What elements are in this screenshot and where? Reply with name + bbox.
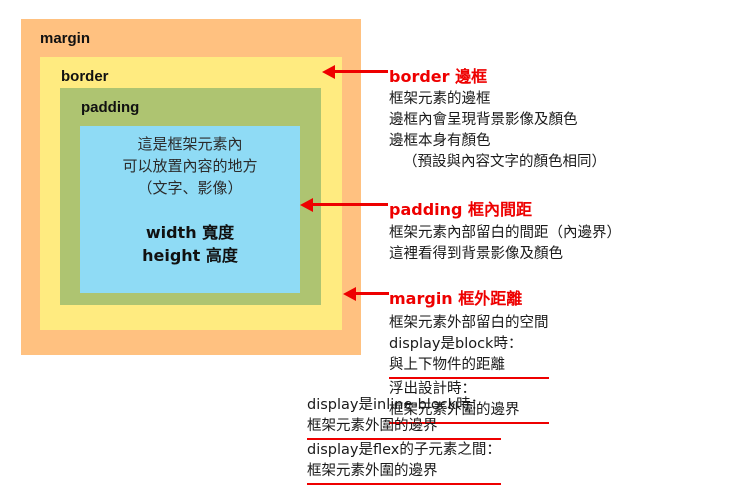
extra-flex-value: 框架元素外圍的邊界 bbox=[307, 461, 501, 485]
margin-note-line-1: 框架元素外部留白的空間 bbox=[389, 313, 549, 334]
margin-layer-label: margin bbox=[40, 31, 90, 46]
border-layer: border padding 這是框架元素內 可以放置內容的地方 （文字、影像）… bbox=[40, 57, 342, 330]
content-description: 這是框架元素內 可以放置內容的地方 （文字、影像） bbox=[80, 133, 300, 199]
padding-note-heading: padding 框內間距 bbox=[389, 196, 532, 220]
arrow-shaft bbox=[353, 292, 389, 295]
box-model-diagram: margin border padding 這是框架元素內 可以放置內容的地方 … bbox=[21, 19, 361, 355]
border-note-line-2: 邊框內會呈現背景影像及顏色 bbox=[389, 110, 606, 131]
content-dimensions: width 寬度 height 高度 bbox=[80, 221, 300, 267]
border-note-line-3: 邊框本身有顏色 bbox=[389, 131, 606, 152]
arrow-to-border-icon bbox=[322, 64, 386, 80]
content-height-label: height 高度 bbox=[80, 244, 300, 267]
content-line-3: （文字、影像） bbox=[80, 177, 300, 199]
content-line-1: 這是框架元素內 bbox=[80, 133, 300, 155]
content-width-label: width 寬度 bbox=[80, 221, 300, 244]
border-note-heading: border 邊框 bbox=[389, 63, 487, 87]
margin-note-heading: margin 框外距離 bbox=[389, 285, 522, 309]
margin-block-value: 與上下物件的距離 bbox=[389, 355, 549, 379]
margin-layer: margin border padding 這是框架元素內 可以放置內容的地方 … bbox=[21, 19, 361, 355]
margin-note-block-line: display是block時：與上下物件的距離 bbox=[389, 334, 549, 379]
extra-note-body: display是inline-block時：框架元素外圍的邊界 display是… bbox=[307, 395, 501, 485]
padding-layer-label: padding bbox=[81, 100, 139, 115]
margin-block-label: display是block時： bbox=[389, 334, 549, 355]
padding-note-line-2: 這裡看得到背景影像及顏色 bbox=[389, 244, 621, 265]
extra-flex-label: display是flex的子元素之間： bbox=[307, 440, 501, 461]
arrow-shaft bbox=[310, 203, 388, 206]
arrow-shaft bbox=[332, 70, 388, 73]
extra-note-flex-line: display是flex的子元素之間：框架元素外圍的邊界 bbox=[307, 440, 501, 485]
padding-layer: padding 這是框架元素內 可以放置內容的地方 （文字、影像） width … bbox=[60, 88, 321, 305]
padding-note-line-1: 框架元素內部留白的間距（內邊界） bbox=[389, 223, 621, 244]
border-layer-label: border bbox=[61, 69, 109, 84]
extra-inline-value: 框架元素外圍的邊界 bbox=[307, 416, 501, 440]
content-line-2: 可以放置內容的地方 bbox=[80, 155, 300, 177]
extra-note-inline-line: display是inline-block時：框架元素外圍的邊界 bbox=[307, 395, 501, 440]
arrow-to-padding-icon bbox=[300, 197, 386, 213]
extra-inline-label: display是inline-block時： bbox=[307, 395, 501, 416]
arrow-to-margin-icon bbox=[343, 286, 387, 302]
content-layer: 這是框架元素內 可以放置內容的地方 （文字、影像） width 寬度 heigh… bbox=[80, 126, 300, 293]
padding-note-body: 框架元素內部留白的間距（內邊界） 這裡看得到背景影像及顏色 bbox=[389, 223, 621, 265]
border-note-body: 框架元素的邊框 邊框內會呈現背景影像及顏色 邊框本身有顏色 （預設與內容文字的顏… bbox=[389, 89, 606, 173]
border-note-line-4: （預設與內容文字的顏色相同） bbox=[389, 152, 606, 173]
border-note-line-1: 框架元素的邊框 bbox=[389, 89, 606, 110]
